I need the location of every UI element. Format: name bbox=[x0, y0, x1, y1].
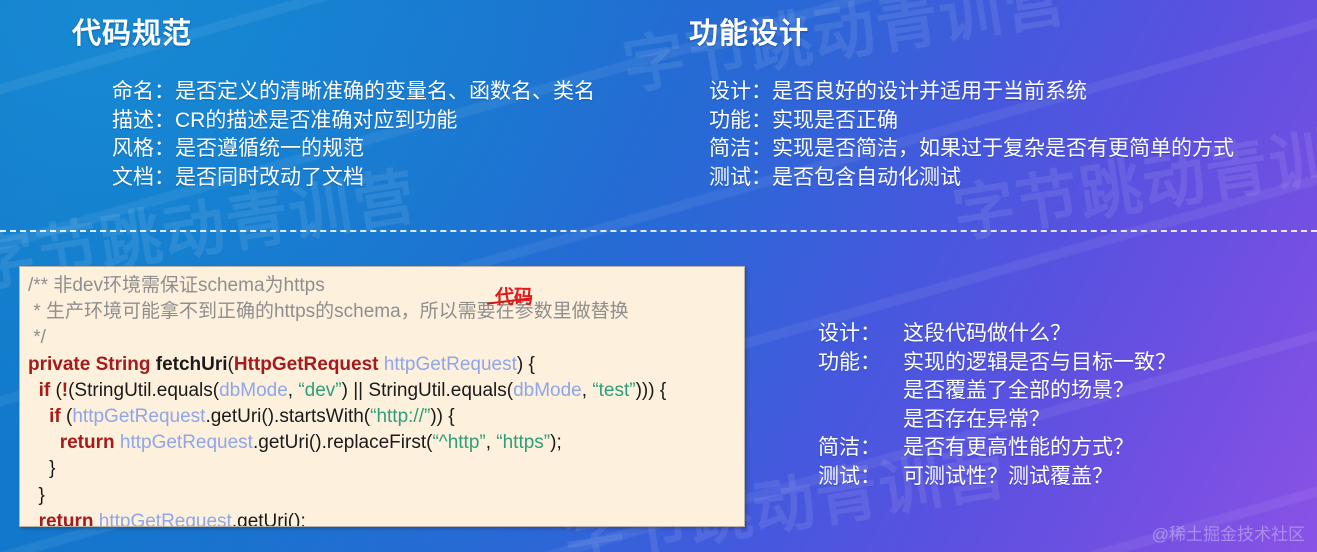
code-token-str: “test” bbox=[592, 380, 635, 401]
code-token-var: httpGetRequest bbox=[384, 354, 517, 375]
code-line: return httpGetRequest.getUri().replaceFi… bbox=[28, 430, 744, 456]
review-question-key: 功能： bbox=[818, 349, 903, 378]
code-token-pl: ) || StringUtil.equals( bbox=[342, 380, 513, 401]
right-bullet-key: 简洁： bbox=[709, 137, 772, 160]
code-line: return httpGetRequest.getUri(); bbox=[28, 509, 744, 527]
left-panel-list: 命名：是否定义的清晰准确的变量名、函数名、类名描述：CR的描述是否准确对应到功能… bbox=[112, 78, 595, 192]
left-bullet-key: 描述： bbox=[112, 109, 175, 132]
code-line: if (httpGetRequest.getUri().startsWith(“… bbox=[28, 404, 744, 430]
review-question-key: 简洁： bbox=[818, 434, 903, 463]
review-question-row: 是否覆盖了全部的场景？ bbox=[818, 377, 1176, 406]
code-token-cmt: /** 非dev环境需保证schema为https bbox=[28, 275, 325, 296]
code-token-pl: } bbox=[28, 458, 55, 479]
code-token-pl: ); bbox=[550, 432, 562, 453]
code-token-pl: )) { bbox=[430, 406, 454, 427]
code-line: */ bbox=[28, 325, 744, 351]
code-token-str: “https” bbox=[496, 432, 550, 453]
code-token-kw: return bbox=[39, 511, 94, 527]
review-question-key: 测试： bbox=[818, 463, 903, 492]
review-question-row: 设计：这段代码做什么？ bbox=[818, 320, 1176, 349]
code-token-var: dbMode bbox=[513, 380, 582, 401]
left-panel-title: 代码规范 bbox=[72, 10, 192, 52]
review-question-row: 功能：实现的逻辑是否与目标一致？ bbox=[818, 349, 1176, 378]
right-bullet-row: 设计：是否良好的设计并适用于当前系统 bbox=[709, 78, 1234, 107]
site-watermark: @稀土掘金技术社区 bbox=[1152, 520, 1305, 545]
left-bullet-key: 风格： bbox=[112, 137, 175, 160]
code-token-kw: if bbox=[49, 406, 61, 427]
right-bullet-key: 设计： bbox=[709, 80, 772, 103]
code-token-pl bbox=[28, 511, 39, 527]
code-token-pl: .getUri().replaceFirst( bbox=[253, 432, 432, 453]
right-bullet-value: 是否良好的设计并适用于当前系统 bbox=[772, 80, 1087, 103]
code-token-kw: if bbox=[39, 380, 51, 401]
right-panel-title: 功能设计 bbox=[689, 10, 809, 52]
code-token-kw: return bbox=[60, 432, 115, 453]
review-questions-list: 设计：这段代码做什么？功能：实现的逻辑是否与目标一致？是否覆盖了全部的场景？是否… bbox=[818, 320, 1176, 491]
review-question-row: 简洁：是否有更高性能的方式？ bbox=[818, 434, 1176, 463]
slide-canvas: 字节跳动青训营 字节跳动青训营 字节跳动青训营 字节跳动青训营 代码规范 功能设… bbox=[0, 0, 1317, 552]
code-token-cmt: * 生产环境可能拿不到正确的https的schema，所以需要在参数里做替换 bbox=[28, 301, 629, 322]
review-question-value: 实现的逻辑是否与目标一致？ bbox=[903, 351, 1176, 374]
review-question-value: 可测试性？测试覆盖？ bbox=[903, 465, 1113, 488]
section-divider bbox=[0, 230, 1317, 232]
code-token-pl: ) { bbox=[517, 354, 535, 375]
code-line: } bbox=[28, 456, 744, 482]
left-bullet-value: 是否遵循统一的规范 bbox=[175, 137, 364, 160]
left-bullet-value: 是否定义的清晰准确的变量名、函数名、类名 bbox=[175, 80, 595, 103]
right-panel-list: 设计：是否良好的设计并适用于当前系统功能：实现是否正确简洁：实现是否简洁，如果过… bbox=[709, 78, 1234, 192]
code-token-cmt: */ bbox=[28, 327, 46, 348]
review-question-value: 是否存在异常？ bbox=[903, 408, 1050, 431]
code-line: * 生产环境可能拿不到正确的https的schema，所以需要在参数里做替换 bbox=[28, 299, 744, 325]
review-question-value: 是否有更高性能的方式？ bbox=[903, 436, 1134, 459]
review-question-row: 测试：可测试性？测试覆盖？ bbox=[818, 463, 1176, 492]
code-token-kw: private String bbox=[28, 354, 156, 375]
review-question-value: 这段代码做什么？ bbox=[903, 322, 1071, 345]
code-token-var: dbMode bbox=[219, 380, 288, 401]
review-question-row: 是否存在异常？ bbox=[818, 406, 1176, 435]
code-token-pl: , bbox=[486, 432, 497, 453]
left-bullet-value: 是否同时改动了文档 bbox=[175, 166, 364, 189]
code-token-var: httpGetRequest bbox=[99, 511, 232, 527]
right-bullet-row: 简洁：实现是否简洁，如果过于复杂是否有更简单的方式 bbox=[709, 135, 1234, 164]
code-token-pl bbox=[28, 432, 60, 453]
right-bullet-value: 实现是否正确 bbox=[772, 109, 898, 132]
code-line: private String fetchUri(HttpGetRequest h… bbox=[28, 352, 744, 378]
left-bullet-row: 风格：是否遵循统一的规范 bbox=[112, 135, 595, 164]
code-token-pl: , bbox=[582, 380, 593, 401]
code-token-pl: .getUri(); bbox=[232, 511, 306, 527]
code-line: if (!(StringUtil.equals(dbMode, “dev”) |… bbox=[28, 378, 744, 404]
review-question-key: 设计： bbox=[818, 320, 903, 349]
code-token-pl: , bbox=[288, 380, 299, 401]
right-bullet-row: 测试：是否包含自动化测试 bbox=[709, 164, 1234, 193]
code-line: /** 非dev环境需保证schema为https bbox=[28, 273, 744, 299]
code-token-var: httpGetRequest bbox=[120, 432, 253, 453]
right-bullet-key: 测试： bbox=[709, 166, 772, 189]
code-token-pl: .getUri().startsWith( bbox=[205, 406, 370, 427]
left-bullet-row: 文档：是否同时改动了文档 bbox=[112, 164, 595, 193]
code-token-pl: ))) { bbox=[636, 380, 667, 401]
review-question-value: 是否覆盖了全部的场景？ bbox=[903, 379, 1134, 402]
code-token-pl: ( bbox=[50, 380, 62, 401]
left-bullet-key: 文档： bbox=[112, 166, 175, 189]
right-bullet-value: 是否包含自动化测试 bbox=[772, 166, 961, 189]
right-bullet-row: 功能：实现是否正确 bbox=[709, 107, 1234, 136]
code-line: } bbox=[28, 483, 744, 509]
code-token-var: httpGetRequest bbox=[72, 406, 205, 427]
code-token-pl bbox=[28, 406, 49, 427]
left-bullet-row: 描述：CR的描述是否准确对应到功能 bbox=[112, 107, 595, 136]
left-bullet-row: 命名：是否定义的清晰准确的变量名、函数名、类名 bbox=[112, 78, 595, 107]
left-bullet-value: CR的描述是否准确对应到功能 bbox=[175, 109, 457, 132]
code-token-pl bbox=[28, 380, 39, 401]
right-bullet-key: 功能： bbox=[709, 109, 772, 132]
code-snippet-box: /** 非dev环境需保证schema为https * 生产环境可能拿不到正确的… bbox=[19, 266, 745, 527]
code-token-typ: HttpGetRequest bbox=[234, 354, 379, 375]
right-bullet-value: 实现是否简洁，如果过于复杂是否有更简单的方式 bbox=[772, 137, 1234, 160]
code-token-pl: } bbox=[28, 485, 45, 506]
code-token-pl: ( bbox=[61, 406, 73, 427]
code-token-str: “^http” bbox=[432, 432, 485, 453]
left-bullet-key: 命名： bbox=[112, 80, 175, 103]
code-token-str: “http://” bbox=[370, 406, 430, 427]
code-token-mth: fetchUri bbox=[156, 354, 228, 375]
code-token-pl: (StringUtil.equals( bbox=[68, 380, 219, 401]
code-token-str: “dev” bbox=[298, 380, 341, 401]
